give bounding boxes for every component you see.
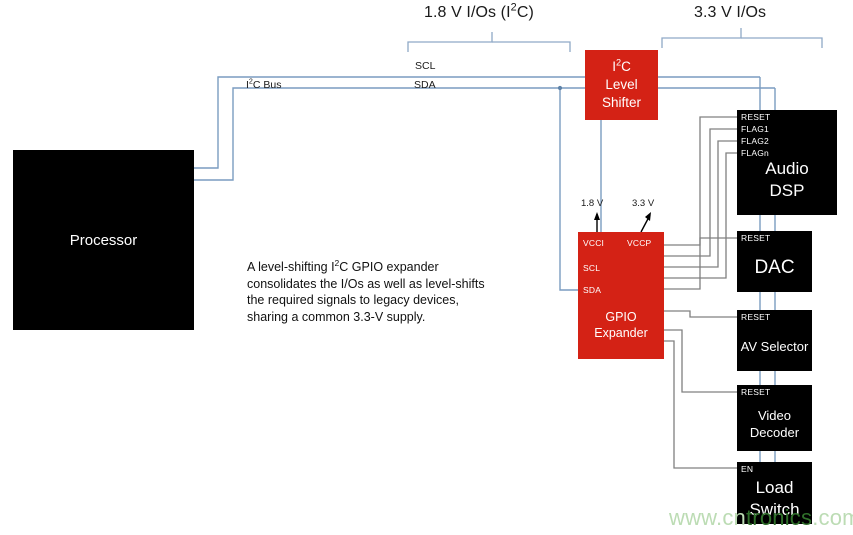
pin-dsp-flag1: FLAG1 <box>741 124 769 134</box>
pin-video-decoder-reset: RESET <box>741 387 770 397</box>
block-dac-label: DAC <box>754 245 794 279</box>
block-gpio-expander[interactable]: GPIOExpander <box>578 232 664 359</box>
pin-dsp-flagn: FLAGn <box>741 148 769 158</box>
watermark-suffix: .com <box>812 505 853 530</box>
pin-av-selector-reset: RESET <box>741 312 770 322</box>
bracket-label-right: 3.3 V I/Os <box>694 4 766 22</box>
block-i2c-level-shifter-label: I2CLevelShifter <box>602 58 641 112</box>
block-i2c-level-shifter[interactable]: I2CLevelShifter <box>585 50 658 120</box>
wire-label-i2c-bus: I2C Bus <box>246 79 281 91</box>
pin-load-switch-en: EN <box>741 464 753 474</box>
pin-vcci: VCCI <box>583 238 604 248</box>
junction-dot-sda <box>558 86 562 90</box>
pin-dsp-reset: RESET <box>741 112 770 122</box>
watermark-highlight: tronics <box>746 505 812 530</box>
bracket-right <box>662 28 822 48</box>
block-gpio-expander-label: GPIOExpander <box>594 309 648 341</box>
bracket-left <box>408 32 570 52</box>
watermark-prefix: www.cn <box>669 505 746 530</box>
watermark: www.cntronics.com <box>669 505 853 531</box>
pin-gpio-scl: SCL <box>583 263 600 273</box>
pin-gpio-sda: SDA <box>583 285 601 295</box>
block-video-decoder-label: VideoDecoder <box>750 395 799 441</box>
diagram-canvas: 1.8 V I/Os (I2C) 3.3 V I/Os Processor I2… <box>0 0 853 535</box>
gpio-output-wires <box>664 117 737 468</box>
supply-label-3v3: 3.3 V <box>632 198 654 209</box>
block-processor[interactable]: Processor <box>13 150 194 330</box>
pin-vccp: VCCP <box>627 238 651 248</box>
block-av-selector-label: AV Selector <box>741 327 809 354</box>
block-processor-label: Processor <box>70 232 138 249</box>
pin-dac-reset: RESET <box>741 233 770 243</box>
caption-text: A level-shifting I2C GPIO expander conso… <box>247 259 497 325</box>
bracket-label-left: 1.8 V I/Os (I2C) <box>424 4 534 22</box>
supply-arrows <box>594 212 651 232</box>
supply-label-1v8: 1.8 V <box>581 198 603 209</box>
pin-dsp-flag2: FLAG2 <box>741 136 769 146</box>
wire-label-scl: SCL <box>415 60 435 72</box>
wire-label-sda: SDA <box>414 79 436 91</box>
block-audio-dsp-label: AudioDSP <box>765 124 808 202</box>
